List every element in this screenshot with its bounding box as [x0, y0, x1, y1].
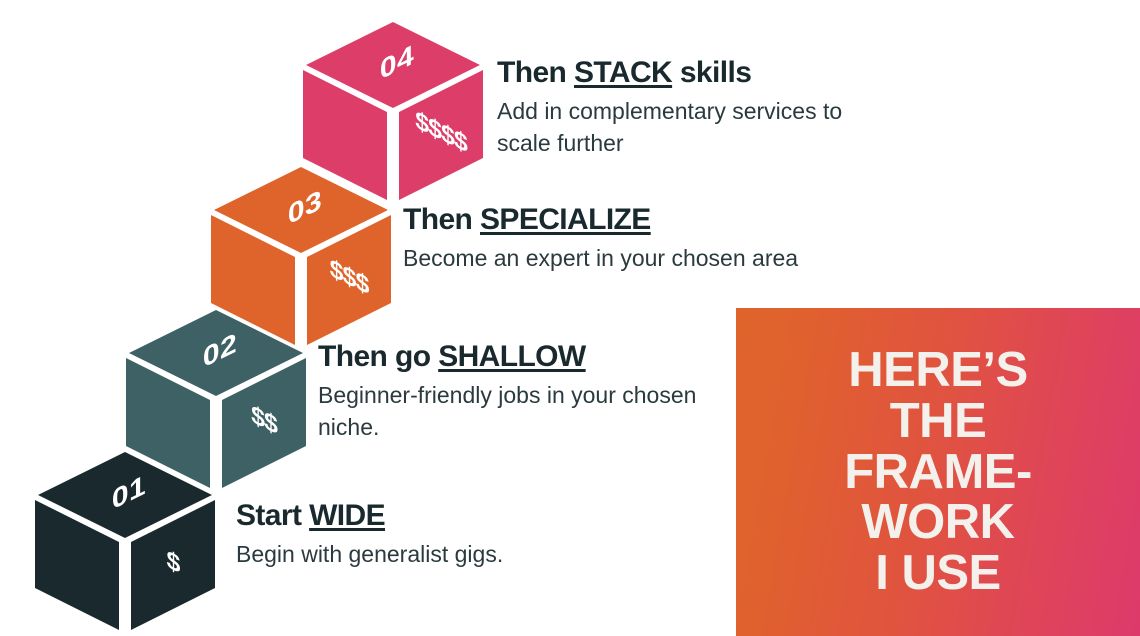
step-text-01: Start WIDE Begin with generalist gigs. — [236, 499, 503, 570]
step-text-04: Then STACK skills Add in complementary s… — [497, 56, 897, 160]
step-title-02: Then go SHALLOW — [318, 340, 718, 374]
infographic-canvas: 04 $$$$ Then STACK skills Add in complem… — [0, 0, 1140, 636]
promo-headline: HERE’S THE FRAME- WORK I USE — [826, 345, 1050, 600]
step-title-03: Then SPECIALIZE — [403, 203, 798, 237]
promo-line-1: HERE’S — [844, 345, 1032, 396]
step-title-keyword-04: STACK — [574, 56, 672, 89]
step-text-03: Then SPECIALIZE Become an expert in your… — [403, 203, 798, 274]
promo-line-4: WORK — [844, 497, 1032, 548]
step-title-01: Start WIDE — [236, 499, 503, 533]
step-title-prefix-02: Then go — [318, 340, 438, 373]
step-title-keyword-02: SHALLOW — [438, 340, 585, 373]
promo-line-2: THE — [844, 396, 1032, 447]
step-title-04: Then STACK skills — [497, 56, 897, 90]
step-title-prefix-04: Then — [497, 56, 574, 89]
step-title-prefix-01: Start — [236, 499, 309, 532]
promo-panel: HERE’S THE FRAME- WORK I USE — [736, 308, 1140, 636]
step-description-03: Become an expert in your chosen area — [403, 242, 798, 275]
step-title-keyword-01: WIDE — [309, 499, 385, 532]
step-cube-01: 01 $ — [35, 452, 215, 630]
promo-line-5: I USE — [844, 548, 1032, 599]
step-description-04: Add in complementary services to scale f… — [497, 95, 897, 160]
step-title-keyword-03: SPECIALIZE — [480, 203, 651, 236]
step-title-prefix-03: Then — [403, 203, 480, 236]
step-title-suffix-04: skills — [672, 56, 751, 89]
promo-line-3: FRAME- — [844, 447, 1032, 498]
step-text-02: Then go SHALLOW Beginner-friendly jobs i… — [318, 340, 718, 444]
step-description-02: Beginner-friendly jobs in your chosen ni… — [318, 379, 718, 444]
step-description-01: Begin with generalist gigs. — [236, 538, 503, 571]
